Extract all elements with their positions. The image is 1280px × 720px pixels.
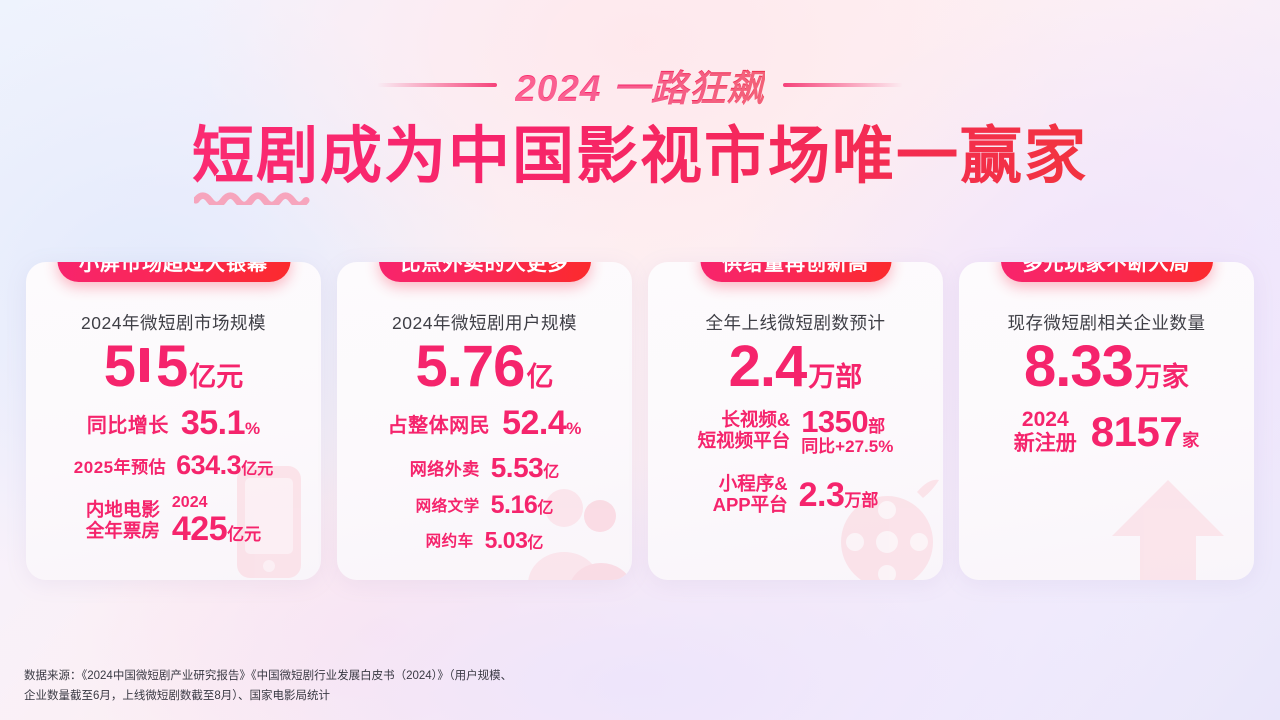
card-1-boxoffice-label: 内地电影 全年票房 [86,500,160,541]
card-1-row-forecast-suffix: 亿元 [241,455,273,479]
card-4-newreg-label-text: 新注册 [1014,432,1077,456]
card-2-row-ridehailing: 网约车 5.03 亿 [349,527,620,554]
card-3-miniapp-value: 2.3 [799,476,845,515]
card-4-newreg-value: 8157 [1091,408,1182,456]
card-1-row-growth: 同比增长 35.1 % [38,404,309,443]
up-arrow-icon [1108,476,1228,580]
card-3-miniapp-label-line1: 小程序& [713,474,788,495]
card-1-body: 2024年微短剧市场规模 5 5 亿元 同比增长 35.1 % 2025年预估 [26,292,321,547]
stat-card-companies[interactable]: 多元玩家不断入局 现存微短剧相关企业数量 8.33 万家 2024 新注册 81… [959,262,1254,580]
card-3-miniapp-label: 小程序& APP平台 [713,474,788,515]
card-4-hero-num: 8.33 [1024,337,1133,398]
eyebrow-rule-right [783,83,903,87]
card-3-hero-num: 2.4 [729,337,807,398]
card-3-longshort-value: 1350 [801,406,868,439]
card-2-row-webnovel-label: 网络文学 [416,494,480,516]
card-3-longshort-suffix: 部 [868,418,885,436]
card-3-longshort-note: 同比+27.5% [801,438,893,456]
card-1-row-growth-label: 同比增长 [87,409,169,438]
footnote-line-2: 企业数量截至6月，上线微短剧数截至8月）、国家电影局统计 [24,686,764,706]
card-1-row-forecast-label: 2025年预估 [74,453,166,478]
poster-header: 2024 一路狂飙 短剧成为中国影视市场唯一赢家 [0,0,1280,196]
card-1-boxoffice-value: 425 [172,512,227,548]
card-3-miniapp-label-line2: APP平台 [713,495,788,516]
card-1-row-boxoffice: 内地电影 全年票房 2024 425 亿元 [38,495,309,547]
card-2-row-ridehailing-value: 5.03 [485,527,528,554]
card-2-row-netizen-label: 占整体网民 [388,409,491,438]
card-1-row-growth-suffix: % [245,419,260,439]
card-3-pill: 供给量再创新高 [700,262,891,282]
card-4-newreg-label: 2024 新注册 [1014,408,1077,455]
card-3-longshort-label: 长视频& 短视频平台 [698,410,791,451]
card-1-row-forecast-value: 634.3 [176,450,241,481]
card-4-block-new-registrations: 2024 新注册 8157 家 [971,408,1242,456]
card-2-row-takeout: 网络外卖 5.53 亿 [349,452,620,484]
card-4-hero: 8.33 万家 [971,337,1242,398]
card-4-caption: 现存微短剧相关企业数量 [971,310,1242,335]
card-2-hero: 5.76 亿 [349,337,620,398]
card-1-caption: 2024年微短剧市场规模 [38,310,309,335]
card-2-row-netizen-value: 52.4 [502,404,566,443]
card-3-longshort-label-line1: 长视频& [698,410,791,431]
card-2-row-takeout-label: 网络外卖 [410,455,480,480]
stat-card-supply-volume[interactable]: 供给量再创新高 全年上线微短剧数预计 2.4 万部 长视频& 短视频平台 135… [648,262,943,580]
card-4-newreg-year: 2024 [1014,408,1077,432]
card-2-caption: 2024年微短剧用户规模 [349,310,620,335]
card-4-pill: 多元玩家不断入局 [1001,262,1213,282]
card-4-newreg-suffix: 家 [1182,426,1199,451]
wavy-underline-icon [194,190,312,205]
card-2-row-ridehailing-label: 网约车 [426,529,474,551]
stat-card-user-scale[interactable]: 比点外卖的人更多 2024年微短剧用户规模 5.76 亿 占整体网民 52.4 … [337,262,632,580]
card-2-row-netizen-suffix: % [566,419,581,439]
card-1-boxoffice-suffix: 亿元 [227,526,261,544]
eyebrow-row: 2024 一路狂飙 [0,58,1280,112]
card-4-hero-unit: 万家 [1135,355,1189,394]
eyebrow-rule-left [377,83,497,87]
card-3-miniapp-suffix: 万部 [844,486,878,511]
card-3-longshort-value-stack: 1350 部 同比+27.5% [801,406,893,456]
card-2-row-netizen-share: 占整体网民 52.4 % [349,404,620,443]
card-3-hero-unit: 万部 [808,355,862,394]
stat-cards-row: 小屏市场超过大银幕 2024年微短剧市场规模 5 5 亿元 同比增长 35.1 … [26,262,1254,580]
card-1-pill: 小屏市场超过大银幕 [57,262,290,282]
card-1-hero-num-right: 5 [156,337,187,398]
data-source-footnote: 数据来源：《2024中国微短剧产业研究报告》《中国微短剧行业发展白皮书（2024… [24,666,764,706]
card-2-row-webnovel-value: 5.16 [491,491,538,520]
card-1-boxoffice-label-line1: 内地电影 [86,500,160,521]
card-3-block-longshort-video: 长视频& 短视频平台 1350 部 同比+27.5% [660,406,931,456]
card-3-body: 全年上线微短剧数预计 2.4 万部 长视频& 短视频平台 1350 部 [648,292,943,516]
card-2-hero-unit: 亿 [526,355,553,394]
page-title: 短剧成为中国影视市场唯一赢家 [192,118,1088,196]
card-1-hero: 5 5 亿元 [38,337,309,398]
card-2-row-webnovel: 网络文学 5.16 亿 [349,491,620,520]
card-2-body: 2024年微短剧用户规模 5.76 亿 占整体网民 52.4 % 网络外卖 5.… [337,292,632,554]
card-1-row-forecast: 2025年预估 634.3 亿元 [38,450,309,481]
card-3-longshort-label-line2: 短视频平台 [698,431,791,452]
infographic-poster: 2024 一路狂飙 短剧成为中国影视市场唯一赢家 小屏市场超过大银幕 2024年… [0,0,1280,720]
card-2-row-ridehailing-suffix: 亿 [527,529,543,553]
card-2-row-takeout-suffix: 亿 [543,458,559,482]
footnote-line-1: 数据来源：《2024中国微短剧产业研究报告》《中国微短剧行业发展白皮书（2024… [24,666,764,686]
card-2-row-takeout-value: 5.53 [491,452,544,484]
card-1-boxoffice-value-stack: 2024 425 亿元 [172,495,261,547]
card-1-hero-clipped-zero [140,348,149,382]
card-3-hero: 2.4 万部 [660,337,931,398]
card-2-row-webnovel-suffix: 亿 [537,494,553,518]
card-1-hero-num-left: 5 [104,337,135,398]
card-3-block-miniapp: 小程序& APP平台 2.3 万部 [660,474,931,515]
card-1-row-growth-value: 35.1 [181,404,245,443]
card-3-caption: 全年上线微短剧数预计 [660,310,931,335]
card-1-hero-unit: 亿元 [189,355,243,394]
card-2-pill: 比点外卖的人更多 [379,262,591,282]
card-1-boxoffice-label-line2: 全年票房 [86,521,160,542]
stat-card-market-size[interactable]: 小屏市场超过大银幕 2024年微短剧市场规模 5 5 亿元 同比增长 35.1 … [26,262,321,580]
card-2-hero-num: 5.76 [416,337,525,398]
eyebrow-text: 2024 一路狂飙 [515,58,765,112]
card-4-body: 现存微短剧相关企业数量 8.33 万家 2024 新注册 8157 家 [959,292,1254,456]
